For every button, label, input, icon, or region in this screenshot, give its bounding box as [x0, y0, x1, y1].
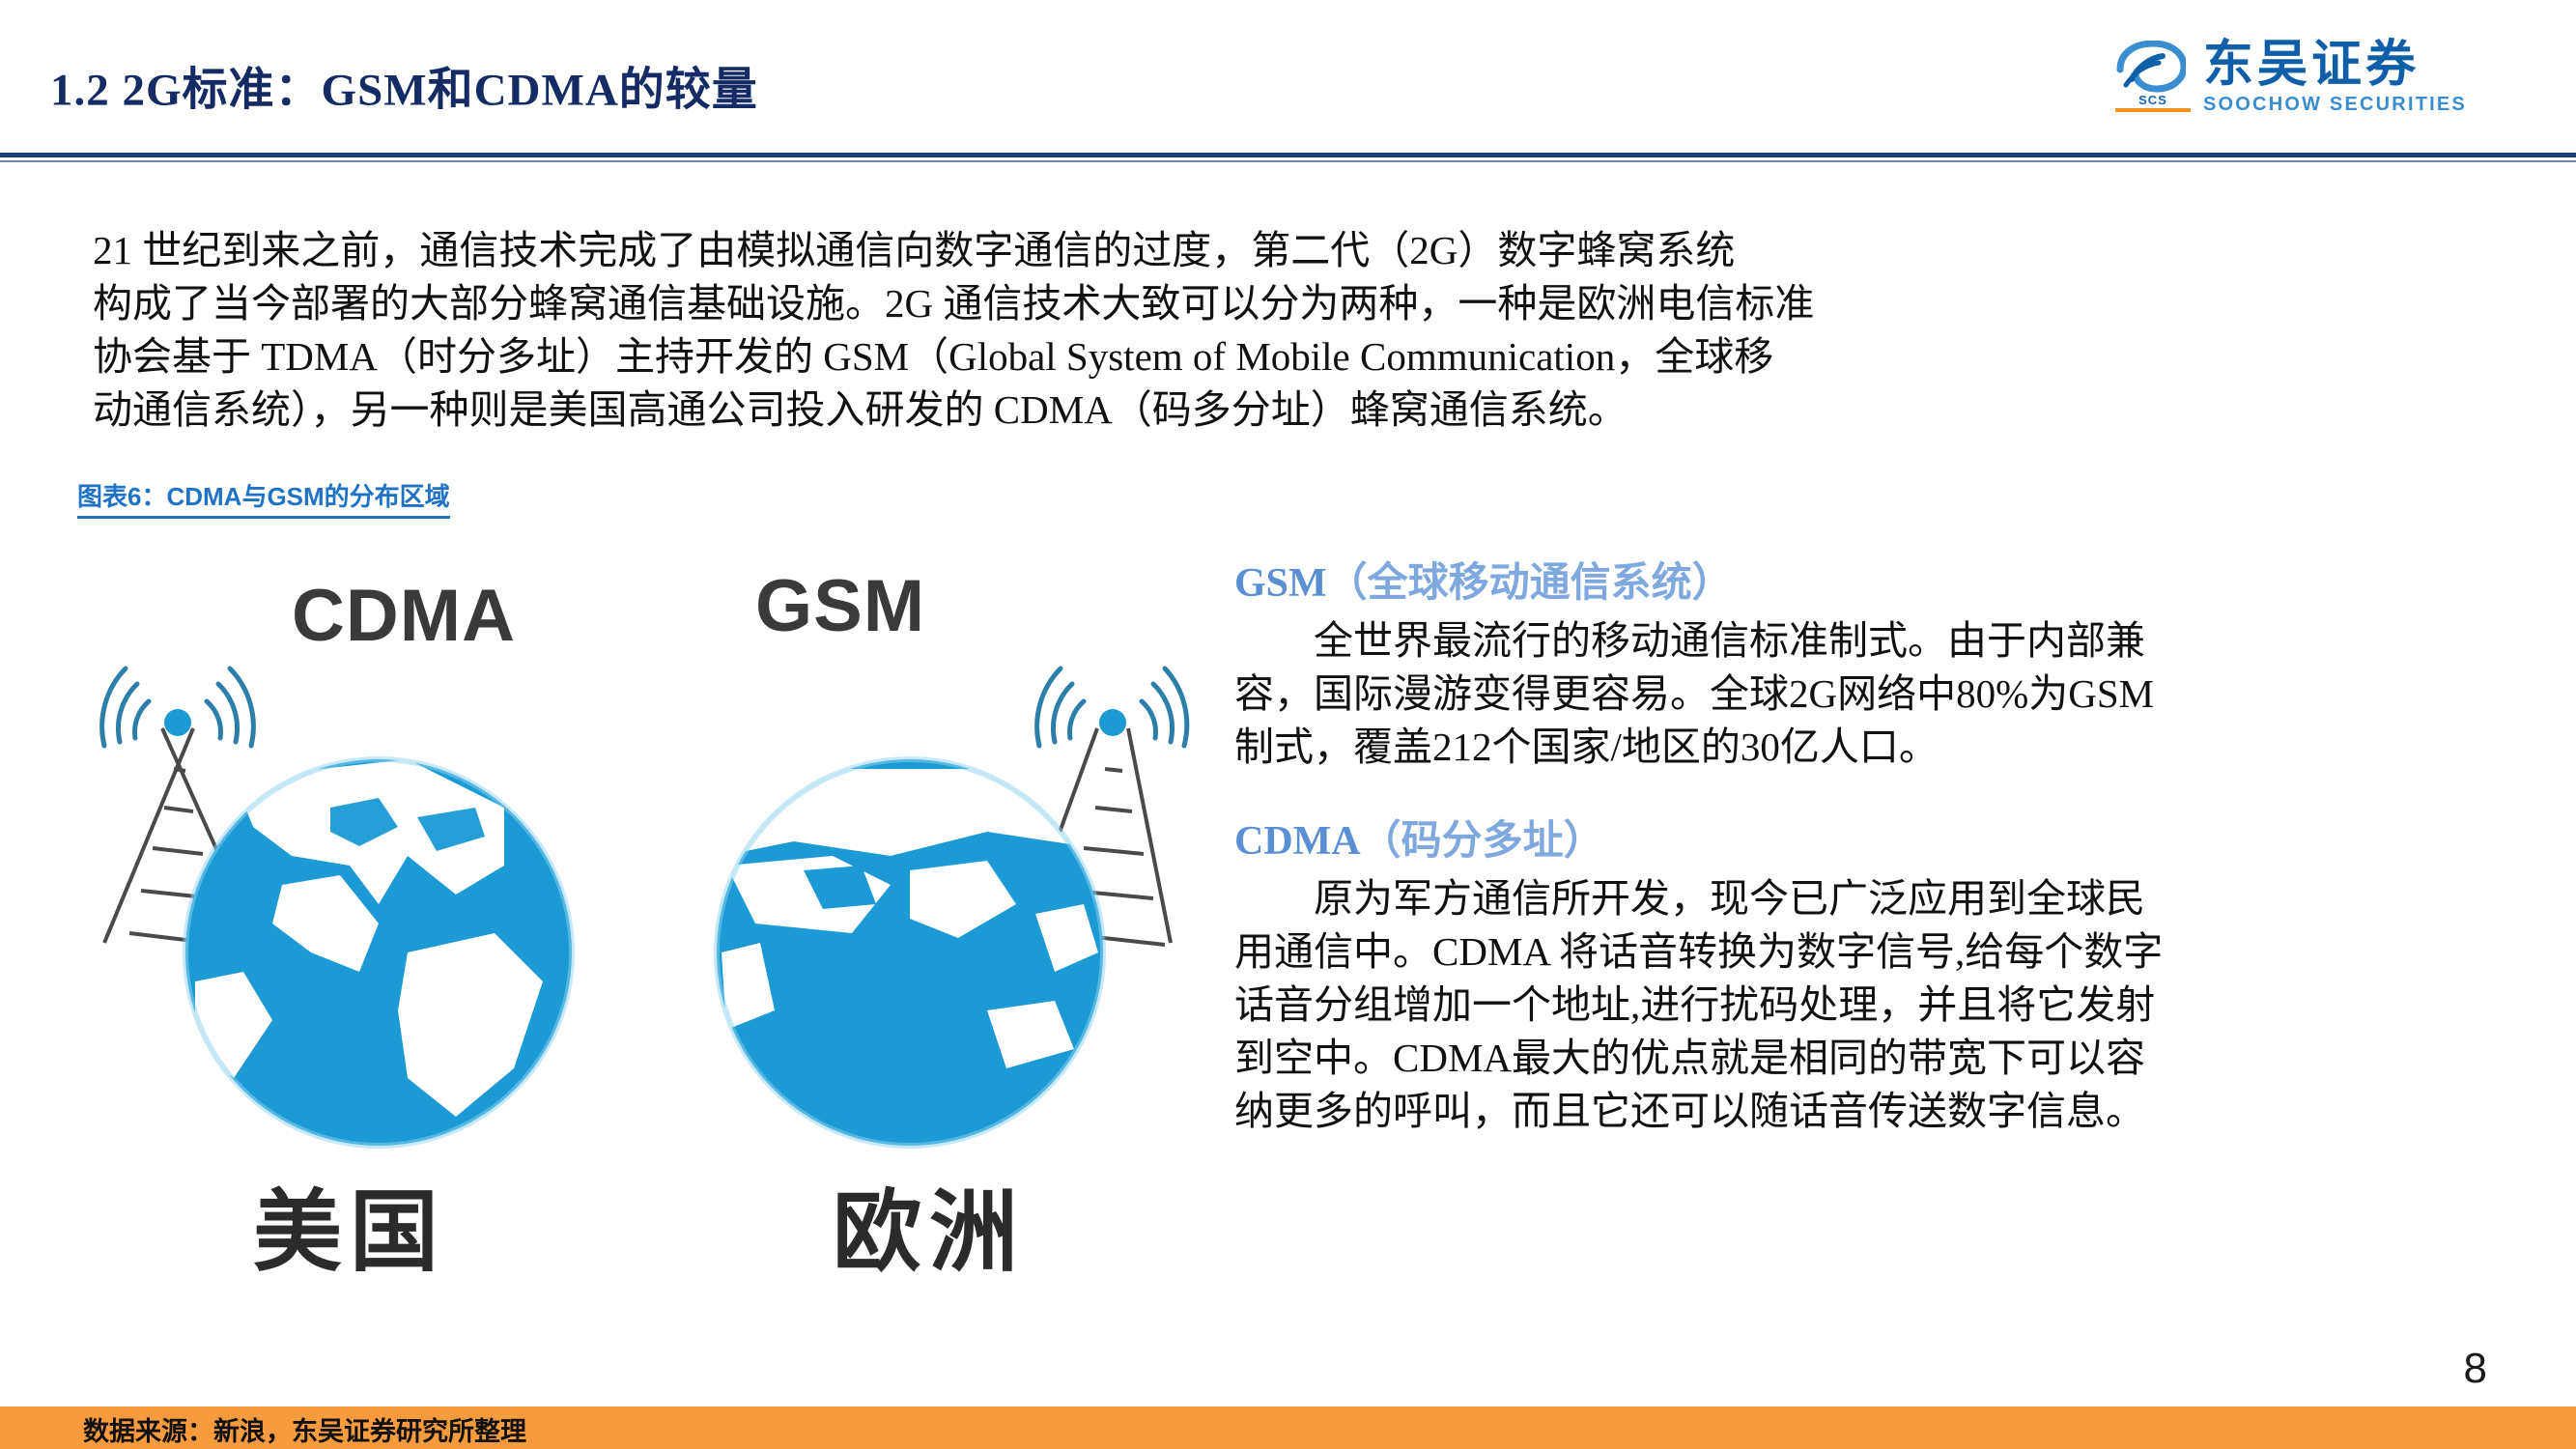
slide-header: 1.2 2G标准：GSM和CDMA的较量 SCS 东吴证券 SOOCHOW SE… — [0, 0, 2576, 155]
body-line: 容，国际漫游变得更容易。全球2G网络中80%为GSM — [1234, 668, 2509, 721]
section-heading-gsm: GSM（全球移动通信系统） — [1234, 558, 2509, 609]
intro-paragraph: 21 世纪到来之前，通信技术完成了由模拟通信向数字通信的过度，第二代（2G）数字… — [93, 224, 2490, 437]
paragraph-line: 构成了当今部署的大部分蜂窝通信基础设施。2G 通信技术大致可以分为两种，一种是欧… — [93, 277, 2490, 330]
globe-americas-icon — [89, 663, 610, 1165]
section-heading-paren: （全球移动通信系统） — [1327, 561, 1733, 606]
region-label-cdma: 美国 — [70, 1160, 630, 1289]
logo-wordmark: 东吴证券 SOOCHOW SECURITIES — [2203, 39, 2467, 115]
source-note: 数据来源：新浪，东吴证券研究所整理 — [83, 1410, 526, 1448]
presentation-slide: 1.2 2G标准：GSM和CDMA的较量 SCS 东吴证券 SOOCHOW SE… — [0, 0, 2576, 1449]
logo-chinese-name: 东吴证券 — [2203, 39, 2467, 93]
body-line: 到空中。CDMA最大的优点就是相同的带宽下可以容 — [1234, 1032, 2509, 1085]
antenna-node — [164, 709, 191, 736]
section-heading-main: CDMA — [1234, 819, 1361, 864]
logo-english-name: SOOCHOW SECURITIES — [2203, 94, 2467, 115]
region-label-gsm: 欧洲 — [649, 1160, 1209, 1289]
section-heading-cdma: CDMA（码分多址） — [1234, 816, 2509, 867]
body-line: 用通信中。CDMA 将话音转换为数字信号,给每个数字 — [1234, 925, 2509, 979]
figure-panel-gsm: GSM — [649, 537, 1209, 1291]
section-body-gsm: 全世界最流行的移动通信标准制式。由于内部兼 容，国际漫游变得更容易。全球2G网络… — [1234, 614, 2509, 774]
section-heading-paren: （码分多址） — [1361, 819, 1604, 864]
paragraph-line: 21 世纪到来之前，通信技术完成了由模拟通信向数字通信的过度，第二代（2G）数字… — [93, 224, 2490, 277]
figure-image-area: CDMA — [70, 537, 1219, 1291]
figure-panel-cdma: CDMA — [70, 537, 630, 1291]
header-divider — [0, 153, 2576, 157]
logo-mark: SCS — [2114, 39, 2194, 114]
section-gsm: GSM（全球移动通信系统） 全世界最流行的移动通信标准制式。由于内部兼 容，国际… — [1234, 558, 2509, 774]
page-number: 8 — [2464, 1345, 2487, 1393]
explanations-column: GSM（全球移动通信系统） 全世界最流行的移动通信标准制式。由于内部兼 容，国际… — [1234, 558, 2509, 1138]
body-line: 纳更多的呼叫，而且它还可以随话音传送数字信息。 — [1234, 1085, 2509, 1138]
body-line: 制式，覆盖212个国家/地区的30亿人口。 — [1234, 721, 2509, 774]
section-body-cdma: 原为军方通信所开发，现今已广泛应用到全球民 用通信中。CDMA 将话音转换为数字… — [1234, 872, 2509, 1138]
body-line: 话音分组增加一个地址,进行扰码处理，并且将它发射 — [1234, 979, 2509, 1032]
antenna-node — [1099, 709, 1126, 736]
swirl-icon — [2116, 41, 2186, 95]
logo-accent-bar — [2115, 108, 2191, 112]
company-logo: SCS 东吴证券 SOOCHOW SECURITIES — [2114, 39, 2539, 116]
section-cdma: CDMA（码分多址） 原为军方通信所开发，现今已广泛应用到全球民 用通信中。CD… — [1234, 816, 2509, 1138]
panel-title-cdma: CDMA — [292, 574, 516, 658]
logo-monogram: SCS — [2115, 93, 2191, 107]
page-title: 1.2 2G标准：GSM和CDMA的较量 — [50, 52, 758, 119]
paragraph-line: 动通信系统），另一种则是美国高通公司投入研发的 CDMA（码多分址）蜂窝通信系统… — [93, 384, 2490, 437]
header-divider-secondary — [0, 160, 2576, 162]
section-spacer — [1234, 774, 2509, 816]
globe-eurasia-icon — [668, 663, 1190, 1165]
figure-caption: 图表6：CDMA与GSM的分布区域 — [77, 477, 450, 519]
body-line: 全世界最流行的移动通信标准制式。由于内部兼 — [1234, 614, 2509, 668]
paragraph-line: 协会基于 TDMA（时分多址）主持开发的 GSM（Global System o… — [93, 330, 2490, 384]
section-heading-main: GSM — [1234, 561, 1327, 606]
body-line: 原为军方通信所开发，现今已广泛应用到全球民 — [1234, 872, 2509, 925]
panel-title-gsm: GSM — [755, 564, 925, 648]
